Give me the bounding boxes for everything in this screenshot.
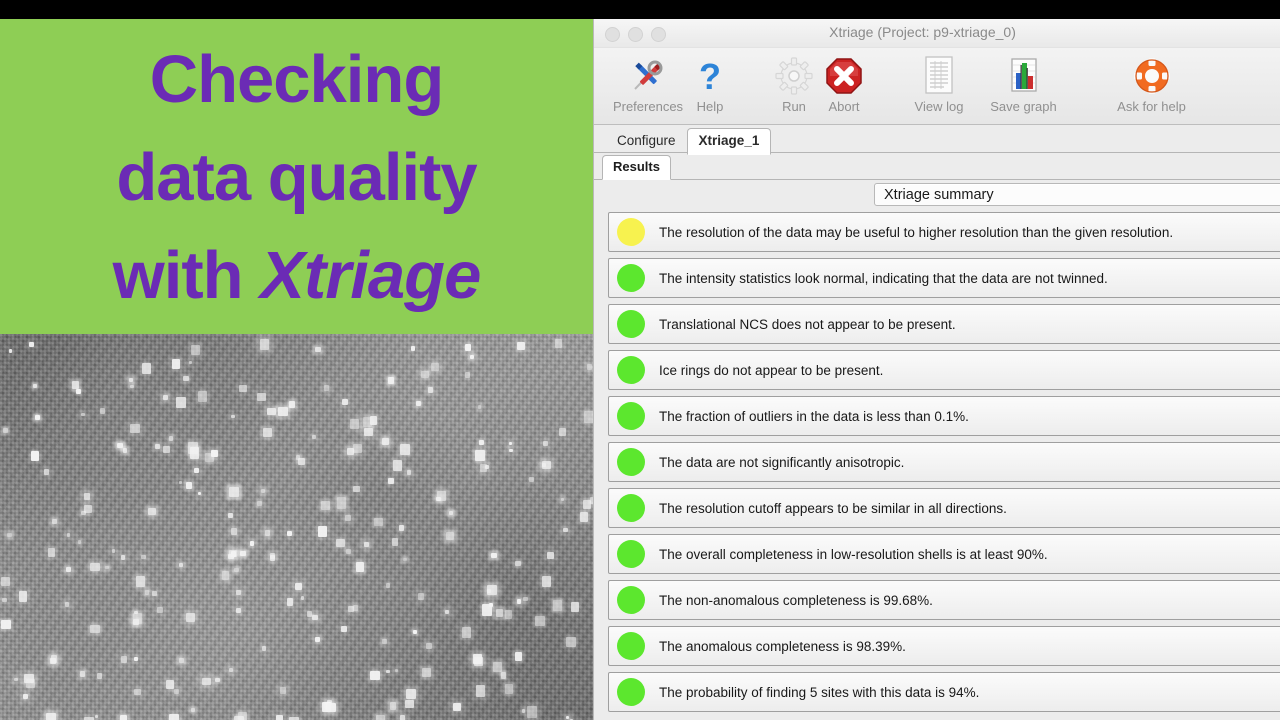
diffraction-spot bbox=[446, 532, 454, 540]
slide-title-line-2: data quality bbox=[0, 129, 593, 227]
presentation-slide-panel: Checking data quality with Xtriage bbox=[0, 19, 593, 720]
status-ok-icon bbox=[617, 632, 645, 660]
result-row[interactable]: The fraction of outliers in the data is … bbox=[608, 396, 1280, 436]
diffraction-spot bbox=[176, 397, 186, 408]
diffraction-spot bbox=[418, 593, 424, 600]
slide-title-card: Checking data quality with Xtriage bbox=[0, 19, 593, 334]
diffraction-spot bbox=[517, 342, 525, 350]
diffraction-spot bbox=[51, 655, 57, 663]
status-ok-icon bbox=[617, 448, 645, 476]
diffraction-spot bbox=[505, 610, 512, 619]
diffraction-spot bbox=[382, 438, 389, 445]
result-row[interactable]: The resolution of the data may be useful… bbox=[608, 212, 1280, 252]
primary-tab-bar: ConfigureXtriage_1 bbox=[594, 125, 1280, 153]
diffraction-spot bbox=[172, 359, 180, 369]
diffraction-spot bbox=[542, 576, 551, 587]
diffraction-spot bbox=[133, 613, 142, 624]
status-ok-icon bbox=[617, 494, 645, 522]
diffraction-spot bbox=[261, 489, 265, 493]
diffraction-spot bbox=[44, 469, 49, 475]
diffraction-spot bbox=[476, 685, 485, 697]
diffraction-spot bbox=[14, 678, 18, 681]
question-mark-icon: ? bbox=[684, 54, 736, 98]
diffraction-spot bbox=[312, 615, 318, 620]
diffraction-spot bbox=[312, 435, 316, 439]
toolbar-button-save-graph[interactable]: Save graph bbox=[976, 54, 1071, 114]
diffraction-spot bbox=[229, 550, 237, 557]
diffraction-spot bbox=[234, 568, 239, 572]
diffraction-spot bbox=[437, 491, 446, 501]
diffraction-spot bbox=[509, 449, 513, 452]
diffraction-spot bbox=[347, 448, 354, 455]
toolbar-label-help: Help bbox=[684, 99, 736, 114]
diffraction-spot bbox=[97, 673, 102, 679]
diffraction-spot bbox=[33, 384, 37, 388]
diffraction-spot bbox=[262, 646, 266, 651]
diffraction-spot bbox=[142, 363, 151, 374]
diffraction-spot bbox=[345, 515, 351, 521]
diffraction-spot bbox=[31, 451, 39, 461]
toolbar-button-preferences[interactable]: Preferences bbox=[602, 54, 694, 114]
diffraction-spot bbox=[321, 501, 330, 510]
document-icon bbox=[899, 54, 979, 98]
diffraction-spot bbox=[487, 585, 497, 595]
diffraction-spot bbox=[287, 531, 292, 536]
diffraction-spot bbox=[236, 608, 241, 613]
diffraction-spot bbox=[370, 671, 380, 680]
diffraction-spot bbox=[400, 715, 405, 720]
result-row[interactable]: The data are not significantly anisotrop… bbox=[608, 442, 1280, 482]
window-title: Xtriage (Project: p9-xtriage_0) bbox=[594, 24, 1280, 40]
diffraction-spot bbox=[169, 436, 173, 441]
diffraction-spot bbox=[134, 689, 141, 695]
diffraction-noise-grain bbox=[0, 334, 593, 720]
diffraction-spot bbox=[90, 563, 100, 571]
diffraction-spot bbox=[453, 703, 461, 711]
diffraction-spot bbox=[386, 583, 390, 588]
result-row[interactable]: The non-anomalous completeness is 99.68%… bbox=[608, 580, 1280, 620]
diffraction-spot bbox=[72, 381, 79, 389]
diffraction-spot bbox=[496, 609, 503, 617]
diffraction-spot bbox=[470, 355, 474, 359]
toolbar-button-abort[interactable]: Abort bbox=[799, 54, 889, 114]
diffraction-spot bbox=[1, 620, 11, 629]
diffraction-spot bbox=[480, 464, 487, 472]
diffraction-spot bbox=[400, 444, 410, 455]
result-text: The overall completeness in low-resoluti… bbox=[659, 547, 1048, 562]
diffraction-spot bbox=[353, 605, 358, 611]
diffraction-spot bbox=[174, 689, 179, 694]
diffraction-spot bbox=[535, 616, 545, 626]
diffraction-spot bbox=[587, 364, 592, 370]
diffraction-spot bbox=[405, 700, 414, 708]
diffraction-spot bbox=[239, 385, 247, 392]
slide-title-line-1: Checking bbox=[0, 31, 593, 129]
slide-title-line-3-italic: Xtriage bbox=[260, 238, 480, 313]
diffraction-spot bbox=[46, 713, 56, 720]
diffraction-spot bbox=[542, 461, 551, 469]
slide-title-line-3: with Xtriage bbox=[0, 227, 593, 325]
summary-selector-strip: Xtriage summary bbox=[594, 180, 1280, 211]
diffraction-spot bbox=[215, 678, 220, 682]
result-text: The fraction of outliers in the data is … bbox=[659, 409, 969, 424]
tools-icon bbox=[602, 54, 694, 98]
diffraction-spot bbox=[374, 518, 383, 526]
diffraction-spot bbox=[356, 562, 364, 572]
diffraction-spot bbox=[19, 591, 27, 602]
diffraction-spot bbox=[191, 708, 195, 712]
diffraction-spot bbox=[422, 668, 431, 677]
diffraction-spot bbox=[23, 694, 28, 699]
diffraction-spot bbox=[145, 590, 149, 595]
letterbox-top-bar bbox=[0, 0, 1280, 19]
diffraction-pattern-image bbox=[0, 334, 593, 720]
diffraction-spot bbox=[388, 478, 394, 484]
diffraction-spot bbox=[257, 393, 266, 401]
screen-root: Checking data quality with Xtriage Xtria… bbox=[0, 0, 1280, 720]
diffraction-spot bbox=[421, 371, 429, 378]
status-ok-icon bbox=[617, 678, 645, 706]
diffraction-spot bbox=[449, 511, 453, 515]
diffraction-spot bbox=[342, 399, 348, 405]
diffraction-spot bbox=[393, 460, 402, 471]
diffraction-spot bbox=[462, 627, 471, 638]
diffraction-spot bbox=[136, 576, 145, 587]
diffraction-spot bbox=[280, 687, 286, 694]
result-text: The resolution cutoff appears to be simi… bbox=[659, 501, 1007, 516]
diffraction-spot bbox=[250, 541, 254, 546]
diffraction-spot bbox=[81, 511, 86, 515]
diffraction-spot bbox=[2, 598, 7, 602]
diffraction-spot bbox=[522, 709, 525, 713]
diffraction-spot bbox=[327, 703, 336, 712]
diffraction-spot bbox=[202, 678, 211, 685]
diffraction-spot bbox=[337, 497, 346, 509]
diffraction-spot bbox=[3, 428, 8, 433]
diffraction-spot bbox=[403, 558, 407, 561]
result-text: The resolution of the data may be useful… bbox=[659, 225, 1173, 240]
diffraction-spot bbox=[566, 716, 569, 719]
diffraction-spot bbox=[267, 408, 276, 415]
diffraction-spot bbox=[270, 555, 275, 561]
svg-text:?: ? bbox=[699, 56, 721, 96]
diffraction-spot bbox=[392, 538, 398, 546]
diffraction-spot bbox=[229, 668, 233, 672]
status-warning-icon bbox=[617, 218, 645, 246]
diffraction-spot bbox=[465, 372, 470, 378]
diffraction-spot bbox=[205, 453, 214, 462]
status-ok-icon bbox=[617, 402, 645, 430]
diffraction-spot bbox=[229, 487, 239, 497]
tab-xtriage-1[interactable]: Xtriage_1 bbox=[687, 128, 772, 155]
result-row[interactable]: The resolution cutoff appears to be simi… bbox=[608, 488, 1280, 528]
diffraction-spot bbox=[130, 424, 140, 433]
diffraction-spot bbox=[155, 444, 160, 449]
diffraction-spot bbox=[399, 525, 404, 531]
diffraction-spot bbox=[35, 415, 40, 420]
diffraction-spot bbox=[240, 551, 246, 556]
diffraction-spot bbox=[493, 662, 502, 672]
diffraction-spot bbox=[571, 602, 579, 612]
diffraction-spot bbox=[191, 345, 200, 355]
result-text: The data are not significantly anisotrop… bbox=[659, 455, 904, 470]
diffraction-spot bbox=[166, 680, 174, 689]
diffraction-spot bbox=[473, 654, 482, 664]
diffraction-spot bbox=[84, 493, 90, 500]
diffraction-spot bbox=[129, 378, 133, 382]
status-ok-icon bbox=[617, 310, 645, 338]
diffraction-spot bbox=[152, 591, 157, 596]
status-ok-icon bbox=[617, 586, 645, 614]
diffraction-spot bbox=[148, 508, 156, 515]
diffraction-spot bbox=[431, 363, 439, 371]
result-row[interactable]: The probability of finding 5 sites with … bbox=[608, 672, 1280, 712]
diffraction-spot bbox=[163, 446, 170, 453]
diffraction-spot bbox=[179, 658, 184, 663]
status-ok-icon bbox=[617, 264, 645, 292]
toolbar-label-ask-for-help: Ask for help bbox=[1099, 99, 1204, 114]
diffraction-spot bbox=[307, 611, 312, 617]
toolbar-button-ask-for-help[interactable]: Ask for help bbox=[1099, 54, 1204, 114]
diffraction-spot bbox=[413, 630, 417, 634]
results-list[interactable]: The resolution of the data may be useful… bbox=[594, 210, 1280, 720]
window-titlebar: Xtriage (Project: p9-xtriage_0) bbox=[594, 19, 1280, 48]
result-text: The anomalous completeness is 98.39%. bbox=[659, 639, 906, 654]
diffraction-spot bbox=[364, 542, 369, 547]
diffraction-spot bbox=[222, 571, 229, 580]
diffraction-spot bbox=[555, 339, 562, 348]
diffraction-spot bbox=[66, 567, 71, 572]
diffraction-spot bbox=[543, 441, 548, 446]
toolbar-label-abort: Abort bbox=[799, 99, 889, 114]
diffraction-spot bbox=[350, 419, 359, 429]
diffraction-spot bbox=[563, 528, 568, 532]
diffraction-spot bbox=[80, 671, 85, 677]
diffraction-spot bbox=[26, 679, 35, 688]
diffraction-spot bbox=[183, 376, 189, 381]
diffraction-spot bbox=[517, 599, 521, 604]
diffraction-spot bbox=[123, 448, 127, 453]
diffraction-spot bbox=[186, 482, 192, 489]
diffraction-spot bbox=[491, 553, 497, 558]
diffraction-spot bbox=[289, 401, 295, 408]
diffraction-spot bbox=[382, 639, 387, 644]
result-row[interactable]: The intensity statistics look normal, in… bbox=[608, 258, 1280, 298]
diffraction-spot bbox=[407, 470, 411, 475]
diffraction-spot bbox=[547, 552, 554, 559]
diffraction-spot bbox=[67, 533, 70, 537]
life-ring-icon bbox=[1099, 54, 1204, 98]
diffraction-spot bbox=[194, 468, 199, 473]
diffraction-spot bbox=[580, 512, 588, 522]
diffraction-spot bbox=[100, 408, 105, 414]
diffraction-spot bbox=[189, 361, 192, 364]
status-ok-icon bbox=[617, 540, 645, 568]
diffraction-spot bbox=[169, 714, 179, 720]
diffraction-spot bbox=[190, 447, 199, 459]
diffraction-spot bbox=[263, 428, 272, 437]
diffraction-spot bbox=[265, 530, 270, 536]
result-row[interactable]: The overall completeness in low-resoluti… bbox=[608, 534, 1280, 574]
diffraction-spot bbox=[1, 577, 10, 586]
diffraction-spot bbox=[105, 566, 109, 569]
diffraction-spot bbox=[478, 405, 481, 409]
toolbar-label-preferences: Preferences bbox=[602, 99, 694, 114]
toolbar-button-view-log[interactable]: View log bbox=[899, 54, 979, 114]
status-ok-icon bbox=[617, 356, 645, 384]
diffraction-spot bbox=[121, 656, 127, 663]
diffraction-spot bbox=[445, 610, 449, 614]
diffraction-spot bbox=[298, 458, 305, 465]
diffraction-spot bbox=[390, 702, 396, 710]
diffraction-spot bbox=[505, 684, 513, 694]
result-row[interactable]: The anomalous completeness is 98.39%. bbox=[608, 626, 1280, 666]
diffraction-spot bbox=[315, 347, 321, 352]
secondary-tab-bar: Results bbox=[594, 153, 1280, 180]
diffraction-spot bbox=[566, 637, 576, 647]
result-text: Ice rings do not appear to be present. bbox=[659, 363, 883, 378]
result-text: Translational NCS does not appear to be … bbox=[659, 317, 956, 332]
diffraction-spot bbox=[276, 715, 283, 720]
diffraction-spot bbox=[157, 607, 163, 613]
diffraction-spot bbox=[228, 513, 233, 518]
diffraction-spot bbox=[163, 395, 168, 400]
toolbar-label-view-log: View log bbox=[899, 99, 979, 114]
diffraction-spot bbox=[475, 450, 485, 461]
diffraction-spot bbox=[179, 563, 183, 567]
diffraction-spot bbox=[198, 391, 207, 402]
xtriage-application-window: Xtriage (Project: p9-xtriage_0) bbox=[593, 19, 1280, 720]
diffraction-spot bbox=[76, 389, 81, 394]
diffraction-spot bbox=[236, 590, 241, 595]
diffraction-spot bbox=[386, 670, 390, 673]
diffraction-spot bbox=[509, 442, 512, 445]
diffraction-spot bbox=[198, 492, 201, 495]
diffraction-spot bbox=[318, 526, 327, 537]
diffraction-spot bbox=[529, 477, 534, 482]
diffraction-spot bbox=[121, 555, 125, 560]
diffraction-spot bbox=[428, 387, 433, 393]
diffraction-spot bbox=[479, 440, 484, 445]
diffraction-spot bbox=[353, 444, 362, 453]
diffraction-spot bbox=[426, 643, 432, 649]
diffraction-spot bbox=[336, 539, 345, 547]
tab-results[interactable]: Results bbox=[602, 155, 671, 180]
diffraction-spot bbox=[278, 407, 288, 416]
diffraction-spot bbox=[90, 625, 100, 633]
diffraction-spot bbox=[117, 443, 123, 448]
diffraction-spot bbox=[465, 344, 471, 351]
diffraction-spot bbox=[231, 528, 237, 535]
diffraction-spot bbox=[515, 652, 522, 661]
diffraction-spot bbox=[527, 706, 537, 718]
diffraction-spot bbox=[515, 561, 521, 566]
diffraction-spot bbox=[411, 346, 415, 351]
result-text: The non-anomalous completeness is 99.68%… bbox=[659, 593, 933, 608]
result-row[interactable]: Translational NCS does not appear to be … bbox=[608, 304, 1280, 344]
diffraction-spot bbox=[260, 339, 269, 350]
diffraction-spot bbox=[231, 415, 235, 418]
toolbar-button-help[interactable]: ? Help bbox=[684, 54, 736, 114]
diffraction-spot bbox=[186, 613, 195, 622]
diffraction-spot bbox=[324, 385, 329, 391]
diffraction-spot bbox=[9, 349, 12, 353]
diffraction-spot bbox=[501, 672, 506, 679]
diffraction-spot bbox=[482, 604, 492, 616]
diffraction-spot bbox=[583, 500, 591, 509]
tab-configure[interactable]: Configure bbox=[606, 129, 687, 154]
diffraction-spot bbox=[388, 377, 394, 384]
diffraction-spot bbox=[376, 715, 385, 720]
diffraction-spot bbox=[95, 715, 98, 718]
slide-title: Checking data quality with Xtriage bbox=[0, 31, 593, 325]
diffraction-spot bbox=[353, 486, 360, 492]
stop-x-icon bbox=[799, 54, 889, 98]
diffraction-spot bbox=[287, 598, 293, 606]
diffraction-spot bbox=[257, 501, 262, 506]
main-toolbar: Preferences ? Help bbox=[594, 48, 1280, 125]
diffraction-spot bbox=[65, 602, 69, 607]
diffraction-spot bbox=[301, 596, 304, 600]
diffraction-spot bbox=[52, 519, 57, 524]
diffraction-spot bbox=[7, 533, 12, 537]
diffraction-spot bbox=[134, 611, 138, 614]
diffraction-spot bbox=[584, 411, 593, 423]
diffraction-spot bbox=[120, 715, 127, 720]
diffraction-spot bbox=[112, 549, 115, 553]
diffraction-spot bbox=[363, 417, 372, 427]
result-row[interactable]: Ice rings do not appear to be present. bbox=[608, 350, 1280, 390]
diffraction-spot bbox=[141, 555, 146, 559]
diffraction-spot bbox=[48, 548, 55, 557]
diffraction-spot bbox=[238, 712, 247, 720]
diffraction-spot bbox=[134, 657, 138, 661]
diffraction-spot bbox=[81, 413, 85, 416]
xtriage-summary-dropdown[interactable]: Xtriage summary bbox=[874, 183, 1280, 206]
toolbar-label-save-graph: Save graph bbox=[976, 99, 1071, 114]
diffraction-spot bbox=[295, 583, 302, 590]
diffraction-spot bbox=[523, 597, 528, 601]
result-text: The intensity statistics look normal, in… bbox=[659, 271, 1108, 286]
diffraction-spot bbox=[553, 600, 562, 611]
diffraction-spot bbox=[315, 637, 320, 642]
result-text: The probability of finding 5 sites with … bbox=[659, 685, 979, 700]
diffraction-spot bbox=[364, 428, 373, 436]
diffraction-spot bbox=[559, 428, 566, 436]
diffraction-spot bbox=[406, 689, 416, 699]
diffraction-spot bbox=[29, 342, 34, 347]
diffraction-spot bbox=[130, 385, 134, 388]
bar-chart-icon bbox=[976, 54, 1071, 98]
diffraction-spot bbox=[416, 401, 421, 406]
slide-title-line-3-plain: with bbox=[113, 238, 261, 313]
diffraction-spot bbox=[346, 549, 351, 554]
diffraction-spot bbox=[341, 626, 347, 632]
